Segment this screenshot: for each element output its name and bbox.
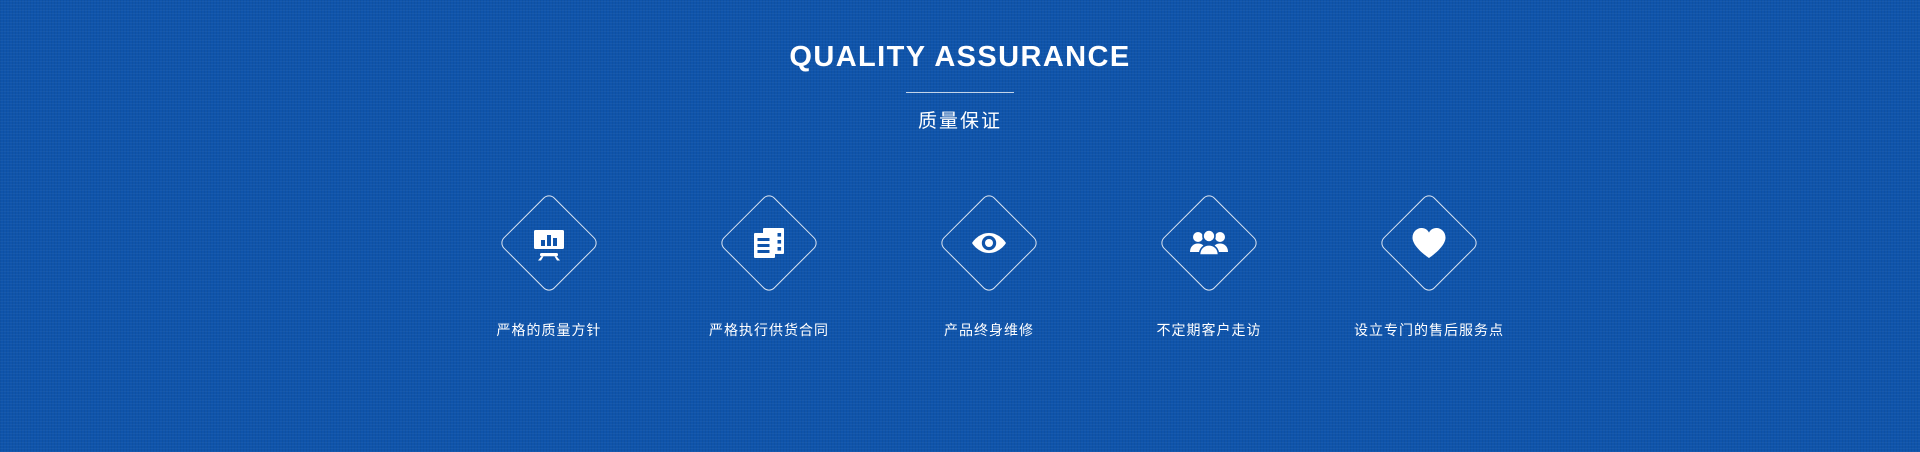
heart-icon	[1407, 221, 1451, 265]
feature-diamond-frame	[1154, 188, 1264, 298]
feature-label: 设立专门的售后服务点	[1354, 320, 1504, 340]
feature-list: 严格的质量方针	[449, 188, 1529, 340]
feature-item-customer-visits[interactable]: 不定期客户走访	[1109, 188, 1309, 340]
feature-label: 严格执行供货合同	[709, 320, 829, 340]
page-title: QUALITY ASSURANCE	[0, 40, 1920, 74]
feature-item-lifetime-maintenance[interactable]: 产品终身维修	[889, 188, 1089, 340]
heading-block: QUALITY ASSURANCE 质量保证	[0, 40, 1920, 135]
feature-diamond-frame	[1374, 188, 1484, 298]
title-divider	[906, 92, 1014, 93]
quality-assurance-banner: QUALITY ASSURANCE 质量保证	[0, 0, 1920, 452]
banner-content: QUALITY ASSURANCE 质量保证	[0, 0, 1920, 452]
eye-icon	[967, 221, 1011, 265]
chart-board-icon	[527, 221, 571, 265]
feature-diamond-frame	[934, 188, 1044, 298]
feature-diamond-frame	[714, 188, 824, 298]
documents-icon	[747, 221, 791, 265]
page-subtitle: 质量保证	[0, 109, 1920, 135]
people-group-icon	[1187, 221, 1231, 265]
feature-item-after-sales-service[interactable]: 设立专门的售后服务点	[1329, 188, 1529, 340]
feature-item-quality-policy[interactable]: 严格的质量方针	[449, 188, 649, 340]
feature-item-supply-contract[interactable]: 严格执行供货合同	[669, 188, 869, 340]
feature-label: 产品终身维修	[944, 320, 1034, 340]
feature-label: 不定期客户走访	[1157, 320, 1262, 340]
feature-diamond-frame	[494, 188, 604, 298]
feature-label: 严格的质量方针	[497, 320, 602, 340]
